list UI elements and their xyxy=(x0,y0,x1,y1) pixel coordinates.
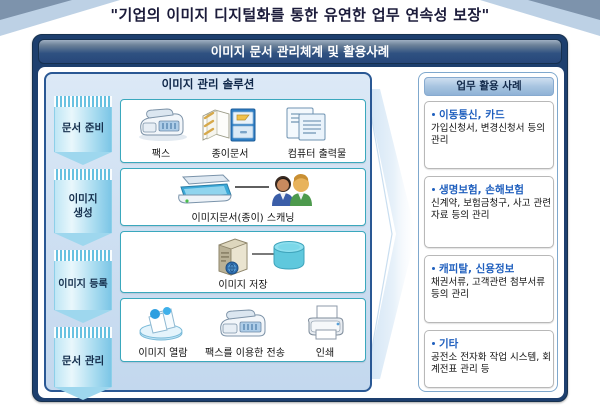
banner-title: "기업의 이미지 디지털화를 통한 유연한 업무 연속성 보장" xyxy=(0,0,600,30)
main-frame: 이미지 문서 관리체계 및 활용사례 이미지 관리 솔루션 xyxy=(32,34,568,402)
scanner-icon xyxy=(173,173,235,207)
chevron-stripes-decoration xyxy=(54,96,112,107)
case-title-1: 이동통신, 카드 xyxy=(439,107,505,122)
frame-content-area: 이미지 관리 솔루션 문서 준비 이미지 생성 xyxy=(38,67,564,398)
database-icon xyxy=(271,240,309,272)
image-management-solution-panel: 이미지 관리 솔루션 문서 준비 이미지 생성 xyxy=(44,72,372,392)
icon-label-scanner: 이미지문서(종이) 스캐닝 xyxy=(121,209,365,224)
icon-label-fax-send: 팩스를 이용한 전송 xyxy=(205,344,281,359)
chevron-stripes-decoration xyxy=(54,327,112,338)
stage-label-1: 문서 준비 xyxy=(54,122,112,135)
row-image-creation: 이미지문서(종이) 스캐닝 xyxy=(120,168,366,226)
paper-documents-icon xyxy=(199,104,261,144)
stage-label-4: 문서 관리 xyxy=(54,355,112,368)
icon-label-computer-printout: 컴퓨터 출력물 xyxy=(273,145,361,160)
bullet-icon xyxy=(432,113,435,116)
bullet-icon xyxy=(432,342,435,345)
case-title-4: 기타 xyxy=(439,336,458,351)
bullet-icon xyxy=(432,188,435,191)
printer-icon xyxy=(303,304,347,342)
left-panel-title: 이미지 관리 솔루션 xyxy=(46,74,370,95)
bullet-icon xyxy=(432,267,435,270)
top-banner: "기업의 이미지 디지털화를 통한 유연한 업무 연속성 보장" xyxy=(0,0,600,36)
frame-title-bar: 이미지 문서 관리체계 및 활용사례 xyxy=(38,39,562,64)
stage-label-2-line2: 생성 xyxy=(54,207,112,220)
icon-label-image-storage: 이미지 저장 xyxy=(121,276,365,291)
right-panel-title: 업무 활용 사례 xyxy=(425,78,553,95)
connector-line-icon xyxy=(235,185,269,189)
stage-chevron-image-registration[interactable]: 이미지 등록 xyxy=(54,250,112,322)
stage-label-3: 이미지 등록 xyxy=(54,278,112,291)
stage-label-2-line1: 이미지 xyxy=(54,193,112,206)
row-document-management: 이미지 열람 팩스를 이용한 전송 xyxy=(120,298,366,362)
row-image-registration: 이미지 저장 xyxy=(120,231,366,293)
icon-label-image-viewer: 이미지 열람 xyxy=(125,344,201,359)
business-use-cases-panel: 업무 활용 사례 이동통신, 카드 가입신청서, 변경신청서 등의 관리 생명보… xyxy=(418,72,558,392)
case-desc-4: 공전소 전자화 작업 시스템, 회계전표 관리 등 xyxy=(431,352,553,376)
stage-chevron-document-management[interactable]: 문서 관리 xyxy=(54,327,112,399)
chevron-stripes-decoration xyxy=(54,250,112,261)
case-card-others[interactable]: 기타 공전소 전자화 작업 시스템, 회계전표 관리 등 xyxy=(424,330,554,388)
stage-chevron-column: 문서 준비 이미지 생성 이미지 등록 xyxy=(54,96,112,388)
fax-icon xyxy=(133,106,189,142)
case-card-capital-credit[interactable]: 캐피탈, 신용정보 채권서류, 고객관련 첨부서류 등의 관리 xyxy=(424,255,554,323)
case-card-insurance[interactable]: 생명보험, 손해보험 신계약, 보험금청구, 사고 관련자료 등의 관리 xyxy=(424,176,554,248)
chevron-stripes-decoration xyxy=(54,169,112,180)
case-desc-2: 신계약, 보험금청구, 사고 관련자료 등의 관리 xyxy=(431,198,553,222)
stage-chevron-document-preparation[interactable]: 문서 준비 xyxy=(54,96,112,164)
server-icon xyxy=(213,237,253,277)
icon-label-paper-documents: 종이문서 xyxy=(195,145,265,160)
fax-send-icon xyxy=(213,307,271,341)
computer-printout-icon xyxy=(283,106,331,142)
row-document-preparation: 팩스 xyxy=(120,99,366,163)
case-title-3: 캐피탈, 신용정보 xyxy=(439,261,514,276)
stage-chevron-image-creation[interactable]: 이미지 생성 xyxy=(54,169,112,245)
case-title-2: 생명보험, 손해보험 xyxy=(439,182,524,197)
case-desc-1: 가입신청서, 변경신청서 등의 관리 xyxy=(431,123,553,147)
image-viewer-icon xyxy=(137,305,189,341)
icon-label-fax: 팩스 xyxy=(129,145,193,160)
case-card-mobile-card[interactable]: 이동통신, 카드 가입신청서, 변경신청서 등의 관리 xyxy=(424,101,554,169)
case-desc-3: 채권서류, 고객관련 첨부서류 등의 관리 xyxy=(431,277,553,301)
frame-title: 이미지 문서 관리체계 및 활용사례 xyxy=(39,40,561,64)
right-panel-title-bar: 업무 활용 사례 xyxy=(424,77,554,96)
people-icon xyxy=(269,173,315,207)
icon-label-printer: 인쇄 xyxy=(293,344,357,359)
